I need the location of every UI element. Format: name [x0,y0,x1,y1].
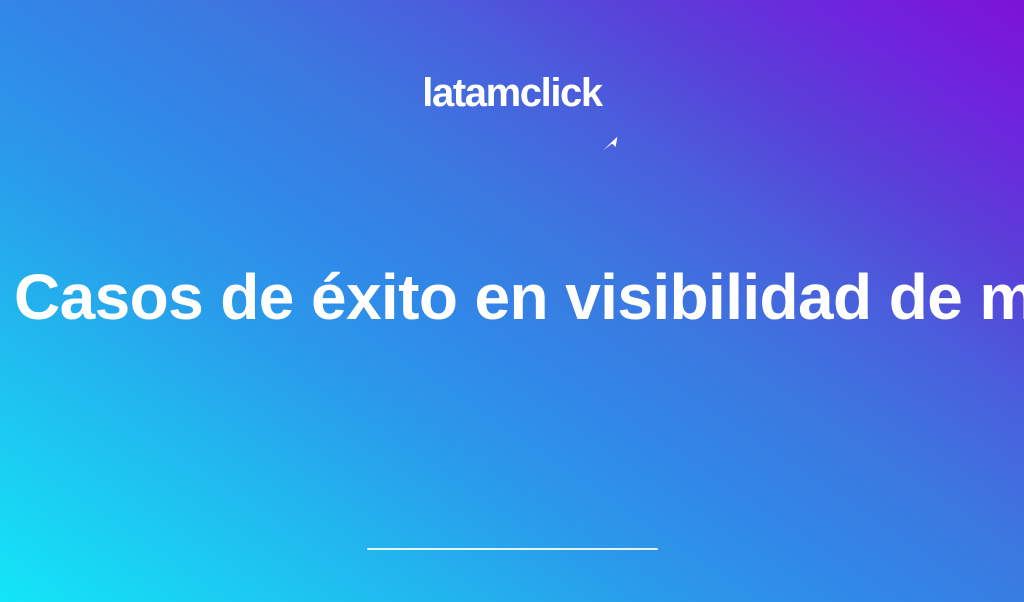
divider [0,548,1024,550]
arrow-up-right-icon [600,134,620,154]
divider-line [367,548,658,550]
page-title: Casos de éxito en visibilidad de marca [0,258,1024,336]
brand-logo-text: latamclick [422,66,601,120]
presentation-slide: latamclick Casos de éxito en visibilidad… [0,0,1024,602]
brand-logo: latamclick [0,66,1024,120]
